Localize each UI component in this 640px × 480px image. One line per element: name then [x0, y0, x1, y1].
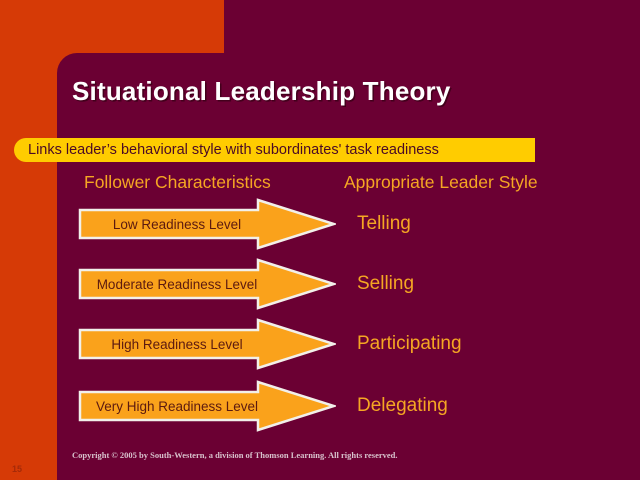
readiness-row: High Readiness Level Participating [0, 318, 640, 374]
page-title: Situational Leadership Theory [72, 76, 592, 107]
readiness-row: Moderate Readiness Level Selling [0, 258, 640, 314]
leader-style-label: Selling [357, 258, 414, 310]
slide-canvas: Situational Leadership Theory Links lead… [0, 0, 640, 480]
leader-style-label: Telling [357, 198, 411, 250]
page-number: 15 [12, 464, 22, 474]
copyright-notice: Copyright © 2005 by South-Western, a div… [72, 450, 398, 460]
arrow-right-icon [78, 380, 336, 432]
arrow-right-icon [78, 318, 336, 370]
subtitle-banner: Links leader’s behavioral style with sub… [14, 138, 535, 162]
arrow-right-icon [78, 258, 336, 310]
readiness-row: Very High Readiness Level Delegating [0, 380, 640, 436]
leader-style-label: Participating [357, 318, 462, 370]
column-header-leader-style: Appropriate Leader Style [344, 172, 538, 193]
column-header-follower: Follower Characteristics [84, 172, 271, 193]
maroon-top-band [224, 0, 640, 56]
subtitle-text: Links leader’s behavioral style with sub… [28, 142, 439, 158]
readiness-row: Low Readiness Level Telling [0, 198, 640, 254]
column-headers: Follower Characteristics Appropriate Lea… [0, 172, 640, 196]
arrow-right-icon [78, 198, 336, 250]
leader-style-label: Delegating [357, 380, 448, 432]
